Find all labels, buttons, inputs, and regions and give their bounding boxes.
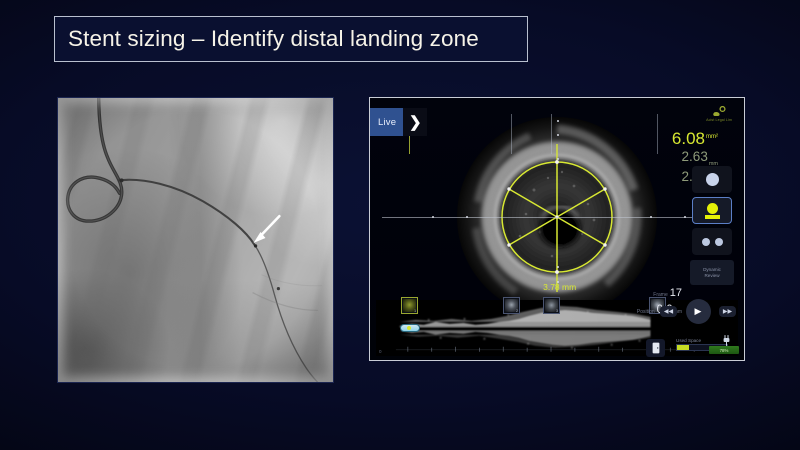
- angiogram-panel: [57, 97, 334, 383]
- used-space-indicator: Used Space 78%: [676, 338, 738, 351]
- dynamic-review-button[interactable]: Dynamic Review: [690, 260, 734, 285]
- lumen-area-tool-button[interactable]: [692, 166, 732, 193]
- measurement-area-unit: mm²: [706, 134, 718, 140]
- rewind-button[interactable]: ◀◀: [660, 306, 677, 317]
- circle-with-bar-icon: [705, 203, 720, 219]
- reticle-tick: [557, 281, 559, 283]
- avanti-core-logo-icon: [712, 106, 727, 117]
- chevron-right-icon[interactable]: ❯: [403, 108, 427, 136]
- measurement-area-value: 6.08: [672, 129, 705, 148]
- playback-transport-controls: ◀◀ ▶ ▶▶: [660, 298, 736, 324]
- ild-position-marker-dot: [407, 326, 411, 330]
- bookmark-label: 1: [414, 309, 416, 313]
- bookmark-line: [511, 114, 512, 154]
- live-mode-indicator: Live ❯: [370, 108, 427, 136]
- reticle-horizontal-line: [382, 217, 732, 218]
- angiogram-overlay: [58, 98, 333, 382]
- page-title: Stent sizing – Identify distal landing z…: [68, 26, 479, 52]
- bookmark-thumbnail-1[interactable]: 1: [401, 297, 418, 314]
- fast-forward-button[interactable]: ▶▶: [719, 306, 736, 317]
- used-space-fill: [677, 345, 689, 350]
- reticle-tick: [557, 266, 559, 268]
- bookmark-thumbnail-2[interactable]: 2: [503, 297, 520, 314]
- bookmark-label: 3: [556, 309, 558, 313]
- two-dots-icon: [702, 238, 723, 246]
- reticle-tick: [466, 216, 468, 218]
- two-point-distance-tool-button[interactable]: [692, 228, 732, 255]
- reticle-tick: [684, 216, 686, 218]
- reticle-tick: [557, 120, 559, 122]
- measurement-dmin: 2.63mm: [632, 149, 718, 168]
- bookmark-line: [551, 114, 552, 154]
- power-plug-icon: [722, 335, 731, 346]
- ivus-status-bar: Used Space 78%: [370, 336, 744, 360]
- live-badge-label: Live: [370, 108, 403, 136]
- position-label: Position: [637, 309, 655, 315]
- reticle-tick: [557, 134, 559, 136]
- vendor-logo: Acist Legal Lim: [706, 106, 732, 122]
- used-space-value: 78%: [709, 346, 739, 354]
- slide-canvas: Stent sizing – Identify distal landing z…: [0, 0, 800, 450]
- diameter-measure-tool-button[interactable]: [692, 197, 732, 224]
- measurement-area: 6.08mm²: [632, 130, 718, 148]
- play-button[interactable]: ▶: [686, 299, 711, 324]
- dynamic-review-line2: Review: [704, 273, 719, 279]
- filled-circle-icon: [706, 173, 719, 186]
- reticle-tick: [650, 216, 652, 218]
- slide-title-box: Stent sizing – Identify distal landing z…: [54, 16, 528, 62]
- bookmark-thumbnail-3[interactable]: 3: [543, 297, 560, 314]
- eject-media-button[interactable]: [646, 339, 665, 357]
- ivus-console-panel: Live ❯ Acist Legal Lim 6.08mm² 2.63mm 2.…: [369, 97, 745, 361]
- measurement-dmin-value: 2.63: [682, 149, 708, 164]
- reticle-tick: [432, 216, 434, 218]
- reticle-tick: [557, 158, 559, 160]
- bookmark-label: 2: [516, 309, 518, 313]
- measurement-tool-palette: [692, 166, 732, 259]
- lumen-diameter-label: 3.78 mm: [543, 282, 576, 292]
- door-eject-icon: [652, 342, 660, 354]
- vendor-logo-name: Acist Legal Lim: [706, 118, 732, 122]
- annotation-arrow-icon: [254, 216, 280, 243]
